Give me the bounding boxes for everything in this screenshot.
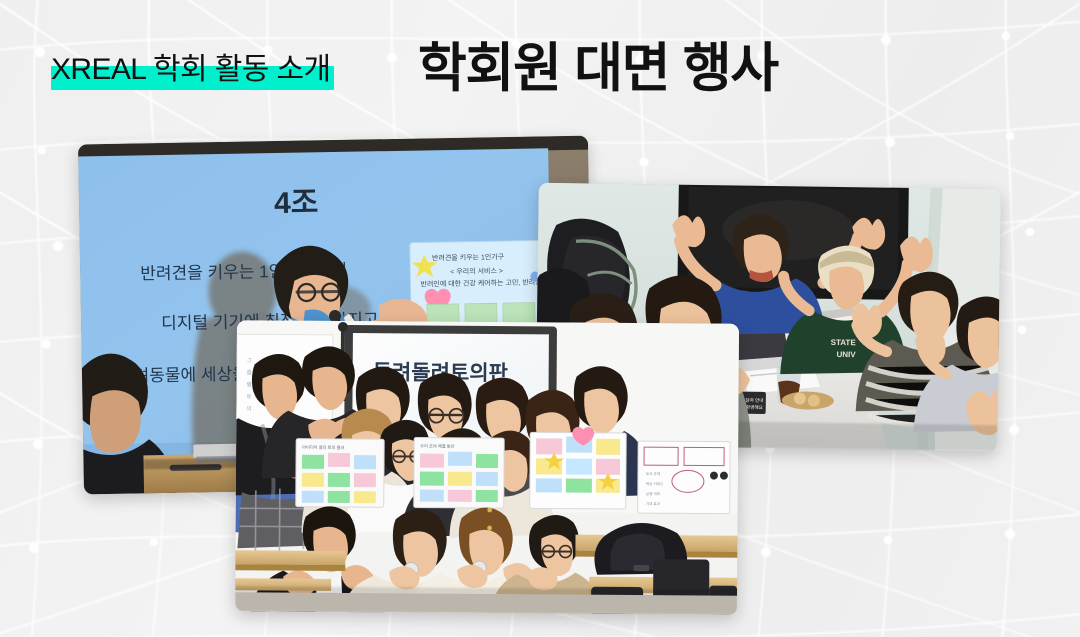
- svg-text:의: 의: [246, 405, 251, 412]
- svg-text:그: 그: [247, 357, 252, 364]
- svg-text:별: 별: [247, 380, 252, 388]
- svg-text:토: 토: [246, 393, 251, 400]
- page-title: 학회원 대면 행사: [418, 36, 778, 102]
- eyebrow-text: XREAL 학회 활동 소개: [51, 53, 330, 86]
- classroom-photo-caption: 강의실에서 토의판과 포스터를 든 단체 사진: [235, 611, 236, 612]
- svg-text:토의 주제: 토의 주제: [646, 471, 660, 476]
- slide-header: XREAL 학회 활동 소개 학회원 대면 행사: [0, 0, 1080, 130]
- svg-text:기대 효과: 기대 효과: [646, 501, 661, 506]
- classroom-group-photo[interactable]: 그룹별 토의 Opiniongateshare 돌려돌려토의판 02: [235, 320, 739, 614]
- svg-text:UNIV: UNIV: [836, 350, 856, 359]
- svg-text:STATE: STATE: [831, 338, 857, 347]
- svg-text:룹: 룹: [247, 369, 252, 376]
- svg-text:핵심 키워드: 핵심 키워드: [646, 481, 664, 486]
- svg-text:실행 계획: 실행 계획: [646, 491, 660, 496]
- svg-text:4조: 4조: [274, 186, 319, 220]
- eyebrow-label: XREAL 학회 활동 소개: [51, 49, 330, 91]
